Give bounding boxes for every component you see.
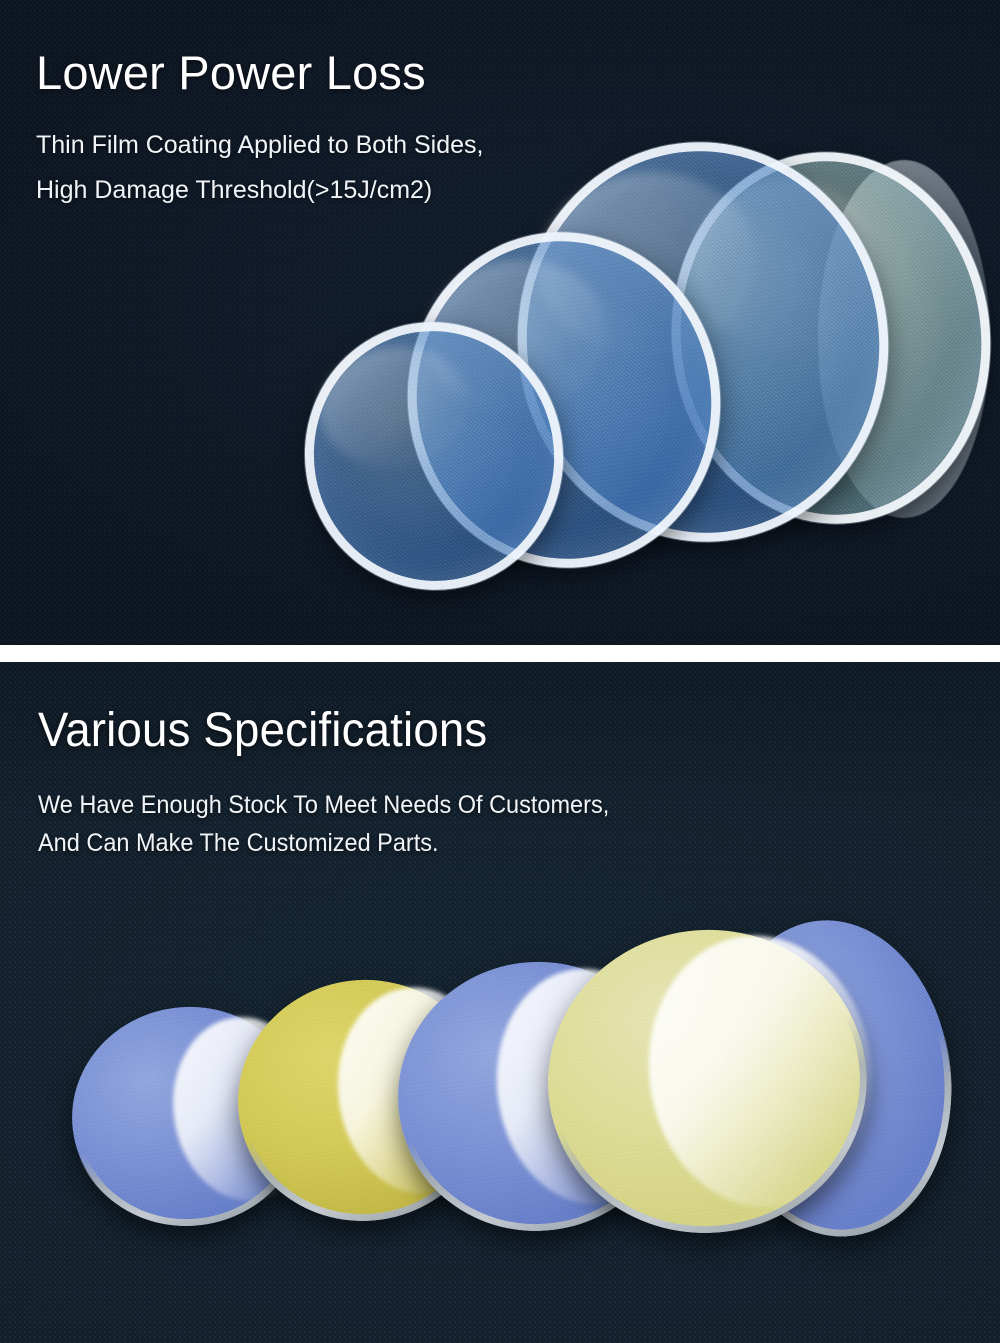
panel-lower-power-loss: Lower Power Loss Thin Film Coating Appli… (0, 0, 1000, 645)
product-feature-banner: Lower Power Loss Thin Film Coating Appli… (0, 0, 1000, 1343)
subtitle-line-1-top: Thin Film Coating Applied to Both Sides, (36, 123, 483, 168)
headline-lower-power-loss: Lower Power Loss (36, 44, 483, 102)
text-block-various-specifications: Various Specifications We Have Enough St… (38, 702, 646, 862)
panel-various-specifications: Various Specifications We Have Enough St… (0, 662, 1000, 1343)
headline-various-specifications: Various Specifications (38, 702, 615, 760)
panel-divider (0, 645, 1000, 662)
subtitle-line-2-bottom: And Can Make The Customized Parts. (38, 824, 609, 862)
subtitle-line-2-top: High Damage Threshold(>15J/cm2) (36, 168, 483, 213)
text-block-lower-power-loss: Lower Power Loss Thin Film Coating Appli… (36, 44, 483, 213)
subtitle-line-1-bottom: We Have Enough Stock To Meet Needs Of Cu… (38, 786, 609, 824)
